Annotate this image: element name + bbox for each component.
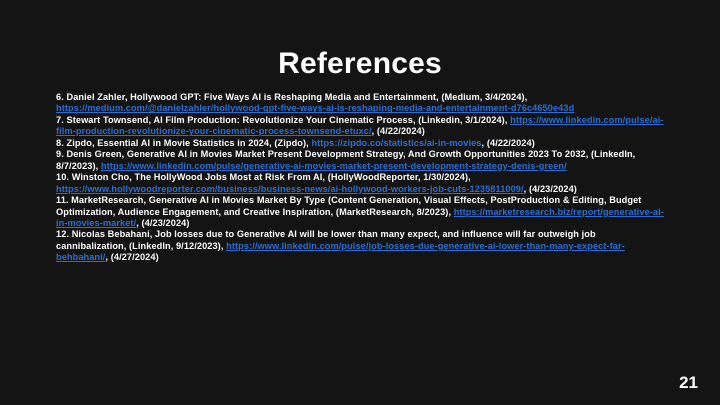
reference-text: , (4/22/2024) bbox=[372, 126, 425, 136]
reference-text: 8. Zipdo, Essential AI in Movie Statisti… bbox=[56, 138, 311, 148]
reference-text: 7. Stewart Townsend, AI Film Production:… bbox=[56, 115, 510, 125]
reference-entry: 12. Nicolas Bebahani, Job losses due to … bbox=[56, 229, 668, 263]
reference-entry: 7. Stewart Townsend, AI Film Production:… bbox=[56, 115, 668, 138]
reference-text: 10. Winston Cho, The HollyWood Jobs Most… bbox=[56, 172, 471, 182]
references-list: 6. Daniel Zahler, Hollywood GPT: Five Wa… bbox=[56, 92, 668, 264]
page-number: 21 bbox=[679, 374, 698, 391]
reference-text: , (4/22/2024) bbox=[482, 138, 535, 148]
reference-link[interactable]: https://zipdo.co/statistics/ai-in-movies bbox=[311, 138, 481, 148]
page-title: References bbox=[0, 47, 720, 82]
reference-link[interactable]: https://medium.com/@danielzahler/hollywo… bbox=[56, 103, 574, 113]
reference-entry: 10. Winston Cho, The HollyWood Jobs Most… bbox=[56, 172, 668, 195]
reference-entry: 11. MarketResearch, Generative AI in Mov… bbox=[56, 195, 668, 229]
reference-link[interactable]: https://www.hollywoodreporter.com/busine… bbox=[56, 184, 524, 194]
reference-text: , (4/23/2024) bbox=[524, 184, 577, 194]
reference-entry: 6. Daniel Zahler, Hollywood GPT: Five Wa… bbox=[56, 92, 668, 115]
reference-link[interactable]: https://www.linkedin.com/pulse/generativ… bbox=[101, 161, 567, 171]
reference-entry: 8. Zipdo, Essential AI in Movie Statisti… bbox=[56, 138, 668, 149]
reference-text: , (4/23/2024) bbox=[136, 218, 189, 228]
reference-text: 6. Daniel Zahler, Hollywood GPT: Five Wa… bbox=[56, 92, 527, 102]
slide-references: References 6. Daniel Zahler, Hollywood G… bbox=[0, 0, 720, 405]
reference-entry: 9. Denis Green, Generative AI in Movies … bbox=[56, 149, 668, 172]
reference-text: , (4/27/2024) bbox=[105, 252, 158, 262]
